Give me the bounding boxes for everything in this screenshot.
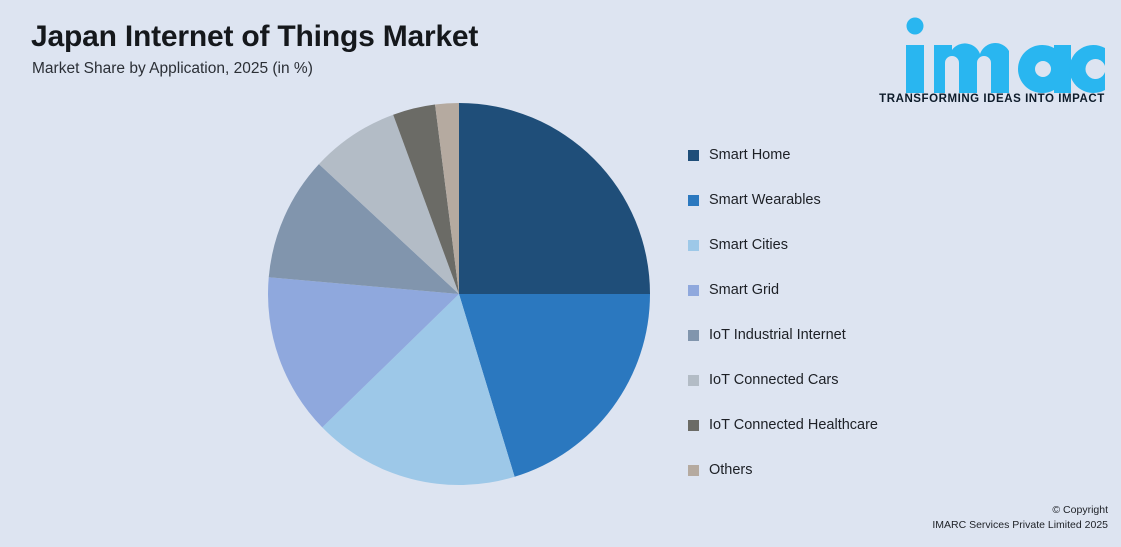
chart-legend: Smart HomeSmart WearablesSmart CitiesSma…: [688, 133, 1018, 493]
copyright-line-2: IMARC Services Private Limited 2025: [932, 518, 1108, 533]
legend-item[interactable]: Smart Wearables: [688, 178, 1018, 223]
legend-item-label: Smart Wearables: [709, 193, 821, 208]
copyright-line-1: © Copyright: [932, 503, 1108, 518]
legend-swatch-icon: [688, 150, 699, 161]
legend-swatch-icon: [688, 285, 699, 296]
legend-item[interactable]: Smart Cities: [688, 223, 1018, 268]
logo-tagline: TRANSFORMING IDEAS INTO IMPACT: [879, 93, 1105, 104]
legend-item[interactable]: IoT Connected Cars: [688, 358, 1018, 403]
legend-item-label: Others: [709, 463, 753, 478]
legend-item[interactable]: IoT Industrial Internet: [688, 313, 1018, 358]
legend-item-label: IoT Connected Cars: [709, 373, 839, 388]
legend-swatch-icon: [688, 375, 699, 386]
copyright-notice: © Copyright IMARC Services Private Limit…: [932, 503, 1108, 533]
legend-swatch-icon: [688, 420, 699, 431]
legend-swatch-icon: [688, 240, 699, 251]
legend-item-label: IoT Industrial Internet: [709, 328, 846, 343]
legend-item-label: Smart Home: [709, 148, 790, 163]
legend-item[interactable]: Others: [688, 448, 1018, 493]
legend-item[interactable]: Smart Grid: [688, 268, 1018, 313]
legend-item[interactable]: Smart Home: [688, 133, 1018, 178]
legend-item-label: Smart Grid: [709, 283, 779, 298]
legend-swatch-icon: [688, 195, 699, 206]
legend-item-label: IoT Connected Healthcare: [709, 418, 878, 433]
legend-swatch-icon: [688, 330, 699, 341]
chart-canvas: Japan Internet of Things Market Market S…: [0, 0, 1121, 547]
page-title: Japan Internet of Things Market: [31, 20, 478, 54]
imarc-wordmark-icon: [906, 18, 1105, 94]
legend-item-label: Smart Cities: [709, 238, 788, 253]
pie-chart: [268, 103, 650, 485]
pie-slice: [459, 103, 650, 294]
page-subtitle: Market Share by Application, 2025 (in %): [32, 60, 313, 78]
legend-item[interactable]: IoT Connected Healthcare: [688, 403, 1018, 448]
imarc-logo: TRANSFORMING IDEAS INTO IMPACT: [876, 12, 1108, 104]
legend-swatch-icon: [688, 465, 699, 476]
